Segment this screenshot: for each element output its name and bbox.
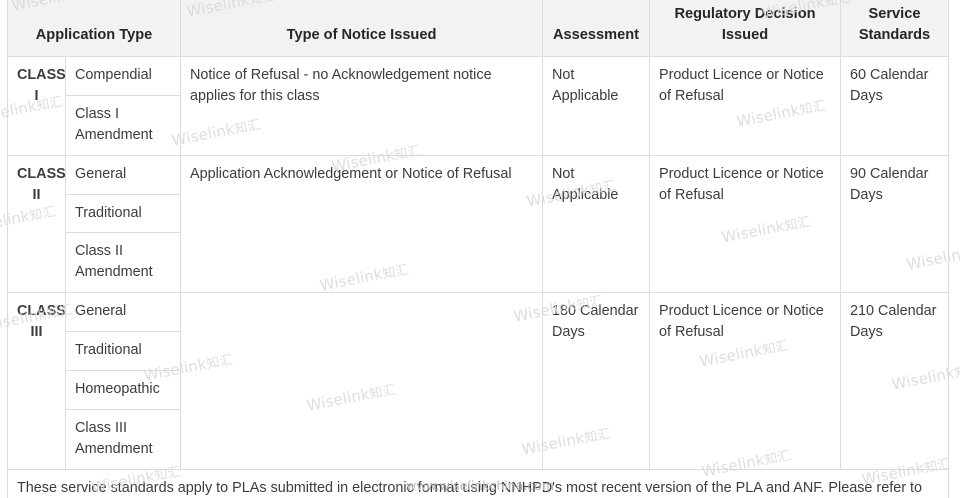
application-subtype-cell: General bbox=[66, 155, 181, 194]
class-label-line1: CLASS bbox=[17, 67, 66, 83]
service-standards-cell: 210 Calendar Days bbox=[841, 293, 949, 469]
table-row: CLASS III General 180 Calendar Days Prod… bbox=[8, 293, 949, 332]
service-standards-cell: 60 Calendar Days bbox=[841, 57, 949, 156]
class-label-line1: CLASS bbox=[17, 166, 66, 182]
class-label-cell: CLASS I bbox=[8, 57, 66, 156]
type-of-notice-cell bbox=[181, 293, 543, 469]
header-row: Application Type Type of Notice Issued A… bbox=[8, 0, 949, 57]
header-type-of-notice-issued: Type of Notice Issued bbox=[181, 0, 543, 57]
table-row: CLASS II General Application Acknowledge… bbox=[8, 155, 949, 194]
class-label-cell: CLASS II bbox=[8, 155, 66, 293]
assessment-cell: Not Applicable bbox=[543, 155, 650, 293]
service-standards-table-container: Application Type Type of Notice Issued A… bbox=[7, 0, 948, 498]
site-url-label: www.wiselinkchina.com bbox=[0, 478, 960, 493]
application-subtype-cell: Homeopathic bbox=[66, 370, 181, 409]
type-of-notice-cell: Notice of Refusal - no Acknowledgement n… bbox=[181, 57, 543, 156]
header-regulatory-decision-issued: Regulatory Decision Issued bbox=[650, 0, 841, 57]
class-label-line2: III bbox=[31, 324, 43, 340]
header-assessment: Assessment bbox=[543, 0, 650, 57]
table-header: Application Type Type of Notice Issued A… bbox=[8, 0, 949, 57]
header-service-standards: Service Standards bbox=[841, 0, 949, 57]
assessment-cell: Not Applicable bbox=[543, 57, 650, 156]
regulatory-decision-cell: Product Licence or Notice of Refusal bbox=[650, 293, 841, 469]
application-subtype-cell: Compendial bbox=[66, 57, 181, 96]
service-standards-cell: 90 Calendar Days bbox=[841, 155, 949, 293]
application-subtype-cell: General bbox=[66, 293, 181, 332]
service-standards-table: Application Type Type of Notice Issued A… bbox=[7, 0, 949, 498]
application-subtype-cell: Traditional bbox=[66, 194, 181, 233]
regulatory-decision-cell: Product Licence or Notice of Refusal bbox=[650, 155, 841, 293]
class-label-cell: CLASS III bbox=[8, 293, 66, 469]
table-row: CLASS I Compendial Notice of Refusal - n… bbox=[8, 57, 949, 96]
application-subtype-cell: Traditional bbox=[66, 332, 181, 371]
application-subtype-cell: Class III Amendment bbox=[66, 409, 181, 469]
type-of-notice-cell: Application Acknowledgement or Notice of… bbox=[181, 155, 543, 293]
assessment-cell: 180 Calendar Days bbox=[543, 293, 650, 469]
screenshot-root: Wiselink知汇Wiselink知汇Wiselink知汇Wiselink知汇… bbox=[0, 0, 960, 498]
class-label-line1: CLASS bbox=[17, 303, 66, 319]
application-subtype-cell: Class I Amendment bbox=[66, 95, 181, 155]
regulatory-decision-cell: Product Licence or Notice of Refusal bbox=[650, 57, 841, 156]
header-application-type: Application Type bbox=[8, 0, 181, 57]
class-label-line2: I bbox=[35, 88, 39, 104]
application-subtype-cell: Class II Amendment bbox=[66, 233, 181, 293]
class-label-line2: II bbox=[33, 187, 41, 203]
table-body: CLASS I Compendial Notice of Refusal - n… bbox=[8, 57, 949, 498]
